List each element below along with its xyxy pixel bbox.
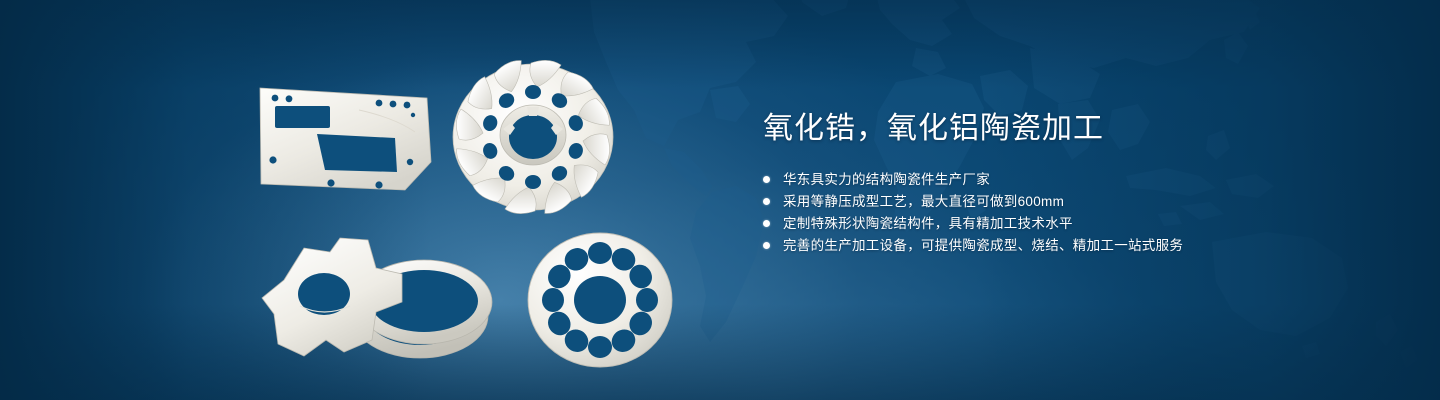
list-item: 定制特殊形状陶瓷结构件，具有精加工技术水平: [763, 216, 1383, 231]
bullet-dot-icon: [763, 242, 770, 249]
ceramic-cross-plate: [252, 228, 522, 368]
ceramic-impeller: [448, 55, 618, 215]
feature-text: 完善的生产加工设备，可提供陶瓷成型、烧结、精加工一站式服务: [783, 238, 1183, 253]
ceramic-perforated-disc: [525, 230, 675, 370]
bullet-dot-icon: [763, 198, 770, 205]
feature-text: 华东具实力的结构陶瓷件生产厂家: [783, 172, 990, 187]
feature-list: 华东具实力的结构陶瓷件生产厂家 采用等静压成型工艺，最大直径可做到600mm 定…: [763, 172, 1383, 253]
bullet-dot-icon: [763, 176, 770, 183]
ceramic-plate: [255, 84, 433, 196]
list-item: 完善的生产加工设备，可提供陶瓷成型、烧结、精加工一站式服务: [763, 238, 1383, 253]
product-collage: [0, 0, 720, 400]
banner-copy: 氧化锆，氧化铝陶瓷加工 华东具实力的结构陶瓷件生产厂家 采用等静压成型工艺，最大…: [763, 108, 1383, 260]
list-item: 采用等静压成型工艺，最大直径可做到600mm: [763, 194, 1383, 209]
hero-banner: 氧化锆，氧化铝陶瓷加工 华东具实力的结构陶瓷件生产厂家 采用等静压成型工艺，最大…: [0, 0, 1440, 400]
list-item: 华东具实力的结构陶瓷件生产厂家: [763, 172, 1383, 187]
bullet-dot-icon: [763, 220, 770, 227]
feature-text: 定制特殊形状陶瓷结构件，具有精加工技术水平: [783, 216, 1073, 231]
page-title: 氧化锆，氧化铝陶瓷加工: [763, 108, 1383, 150]
feature-text: 采用等静压成型工艺，最大直径可做到600mm: [783, 194, 1064, 209]
